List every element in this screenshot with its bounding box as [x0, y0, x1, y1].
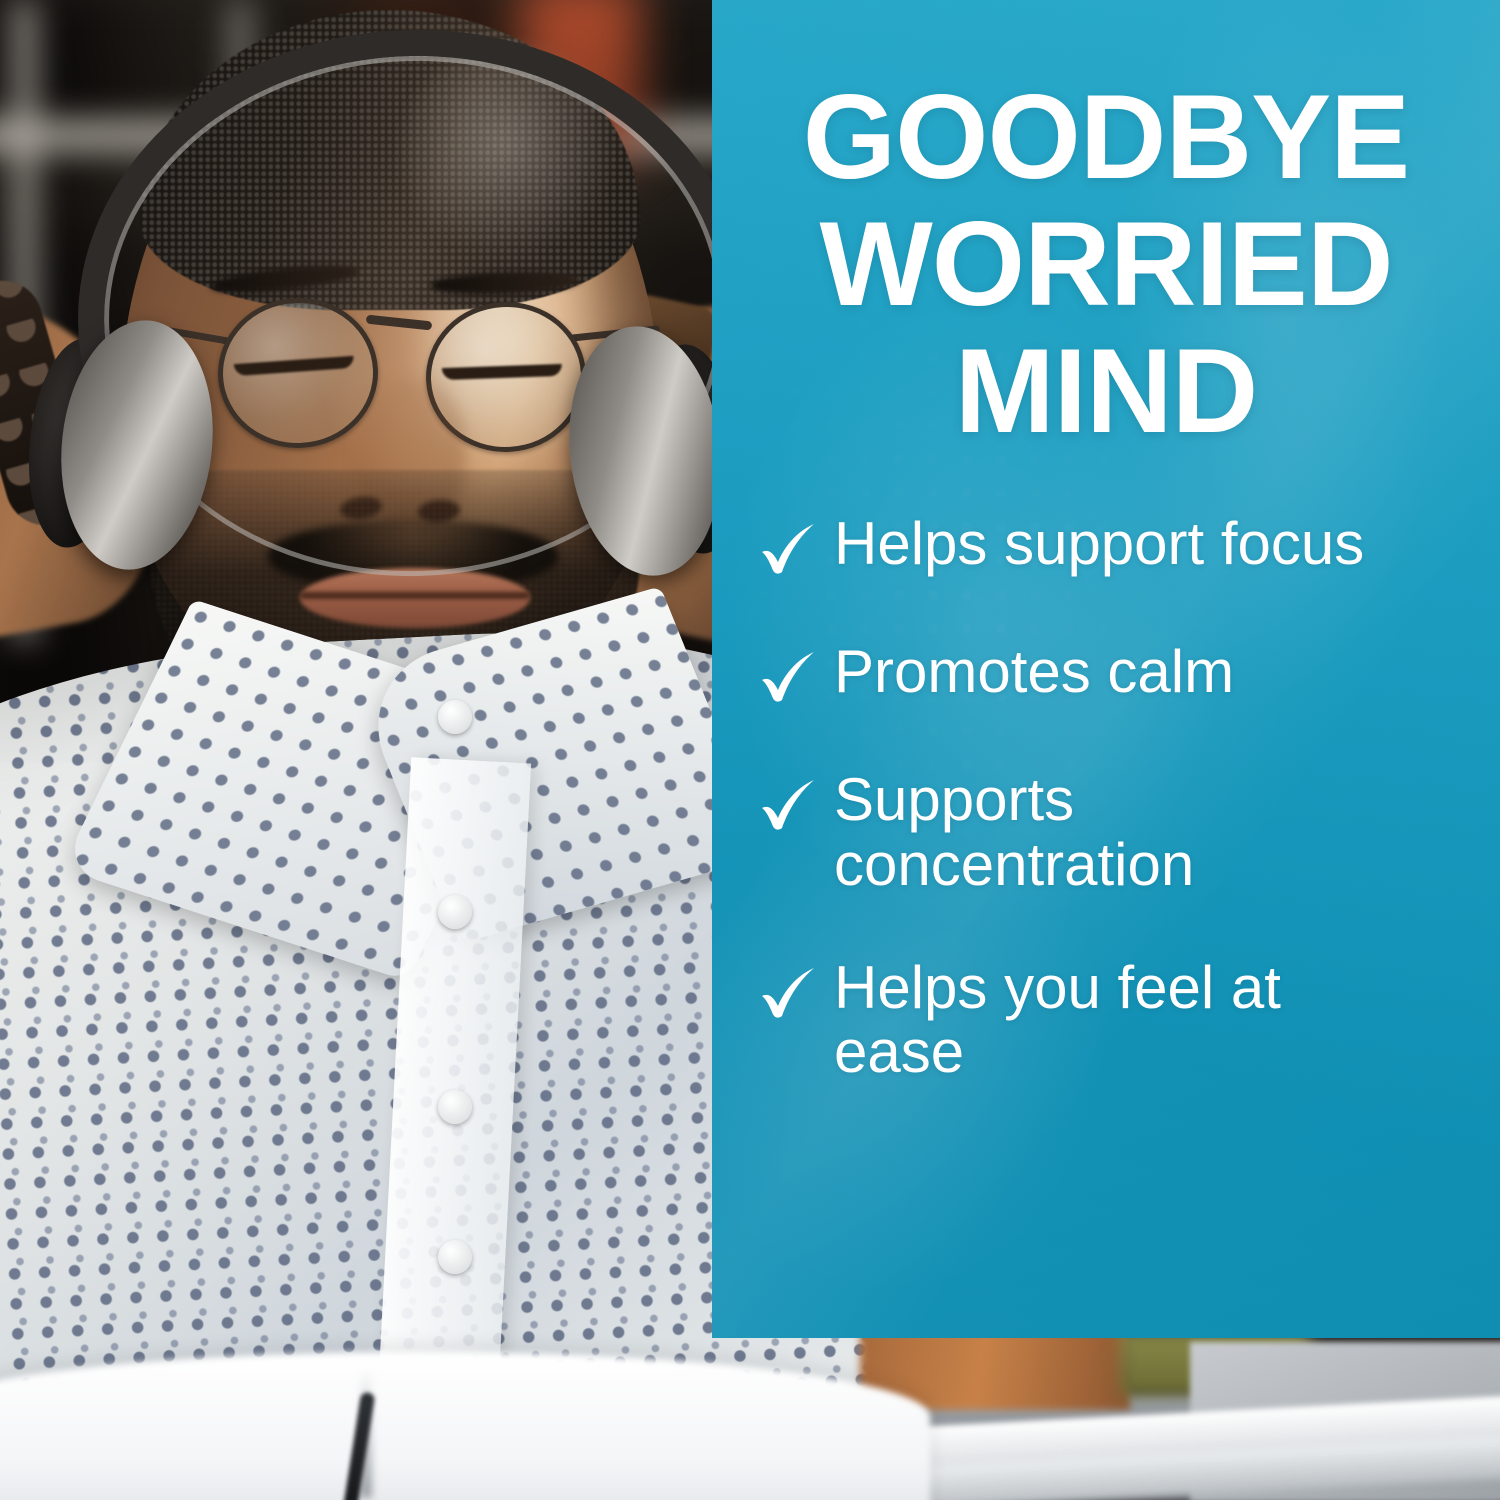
shirt-button: [438, 700, 472, 734]
check-icon: [756, 962, 820, 1026]
headline-line-1: GOODBYE: [738, 74, 1474, 201]
list-item-label: Helps you feel at ease: [834, 956, 1404, 1086]
list-item: Helps support focus: [756, 512, 1460, 582]
page-title: GOODBYE WORRIED MIND: [712, 74, 1500, 456]
list-item-label: Helps support focus: [834, 512, 1364, 577]
list-item: Supports concentration: [756, 768, 1460, 898]
shirt-button: [438, 1240, 472, 1274]
list-item: Promotes calm: [756, 640, 1460, 710]
teal-text-panel: GOODBYE WORRIED MIND Helps support focus: [712, 0, 1500, 1338]
headline-line-2: WORRIED: [738, 201, 1474, 328]
product-lifestyle-banner: GOODBYE WORRIED MIND Helps support focus: [0, 0, 1500, 1500]
list-item: Helps you feel at ease: [756, 956, 1460, 1086]
check-icon: [756, 646, 820, 710]
shirt-button: [438, 1090, 472, 1124]
check-icon: [756, 518, 820, 582]
benefits-list: Helps support focus Promotes calm Suppor…: [756, 512, 1460, 1085]
list-item-label: Supports concentration: [834, 768, 1404, 898]
open-book: [0, 1352, 930, 1500]
check-icon: [756, 774, 820, 838]
list-item-label: Promotes calm: [834, 640, 1234, 705]
headline-line-3: MIND: [738, 328, 1474, 455]
shirt-button: [438, 895, 472, 929]
